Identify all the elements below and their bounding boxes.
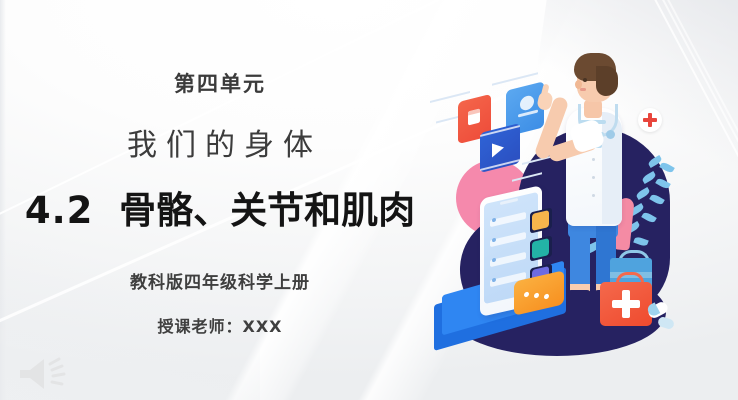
title-text-block: 第四单元 我们的身体 4.2 骨骼、关节和肌肉 教科版四年级科学上册 授课老师：… [0,0,440,400]
first-aid-cross [612,300,640,308]
coat-button [592,176,595,179]
stethoscope-chestpiece [606,130,615,139]
pill-capsule [657,316,675,330]
body-title: 我们的身体 [0,120,440,164]
page-title: 4.2 骨骼、关节和肌肉 [0,180,440,234]
speaker-icon [14,354,80,394]
doctor-shoe [567,290,591,308]
presentation-slide: 第四单元 我们的身体 4.2 骨骼、关节和肌肉 教科版四年级科学上册 授课老师：… [0,0,738,400]
doctor-leg-left [570,222,590,288]
doctor-hair-side [596,66,618,96]
doctor-mouth [580,88,586,91]
unit-label: 第四单元 [0,68,440,98]
play-button-icon [492,141,504,158]
coat-button [592,194,595,197]
coat-button [592,158,595,161]
red-cross-badge-bar [643,118,657,122]
lesson-number: 4.2 [25,189,94,232]
doctor-eye [583,78,587,82]
textbook-label: 教科版四年级科学上册 [0,268,440,293]
teacher-label: 授课老师：XXX [0,313,440,337]
doctor-medical-illustration [420,0,738,400]
lesson-title: 骨骼、关节和肌肉 [119,189,415,232]
